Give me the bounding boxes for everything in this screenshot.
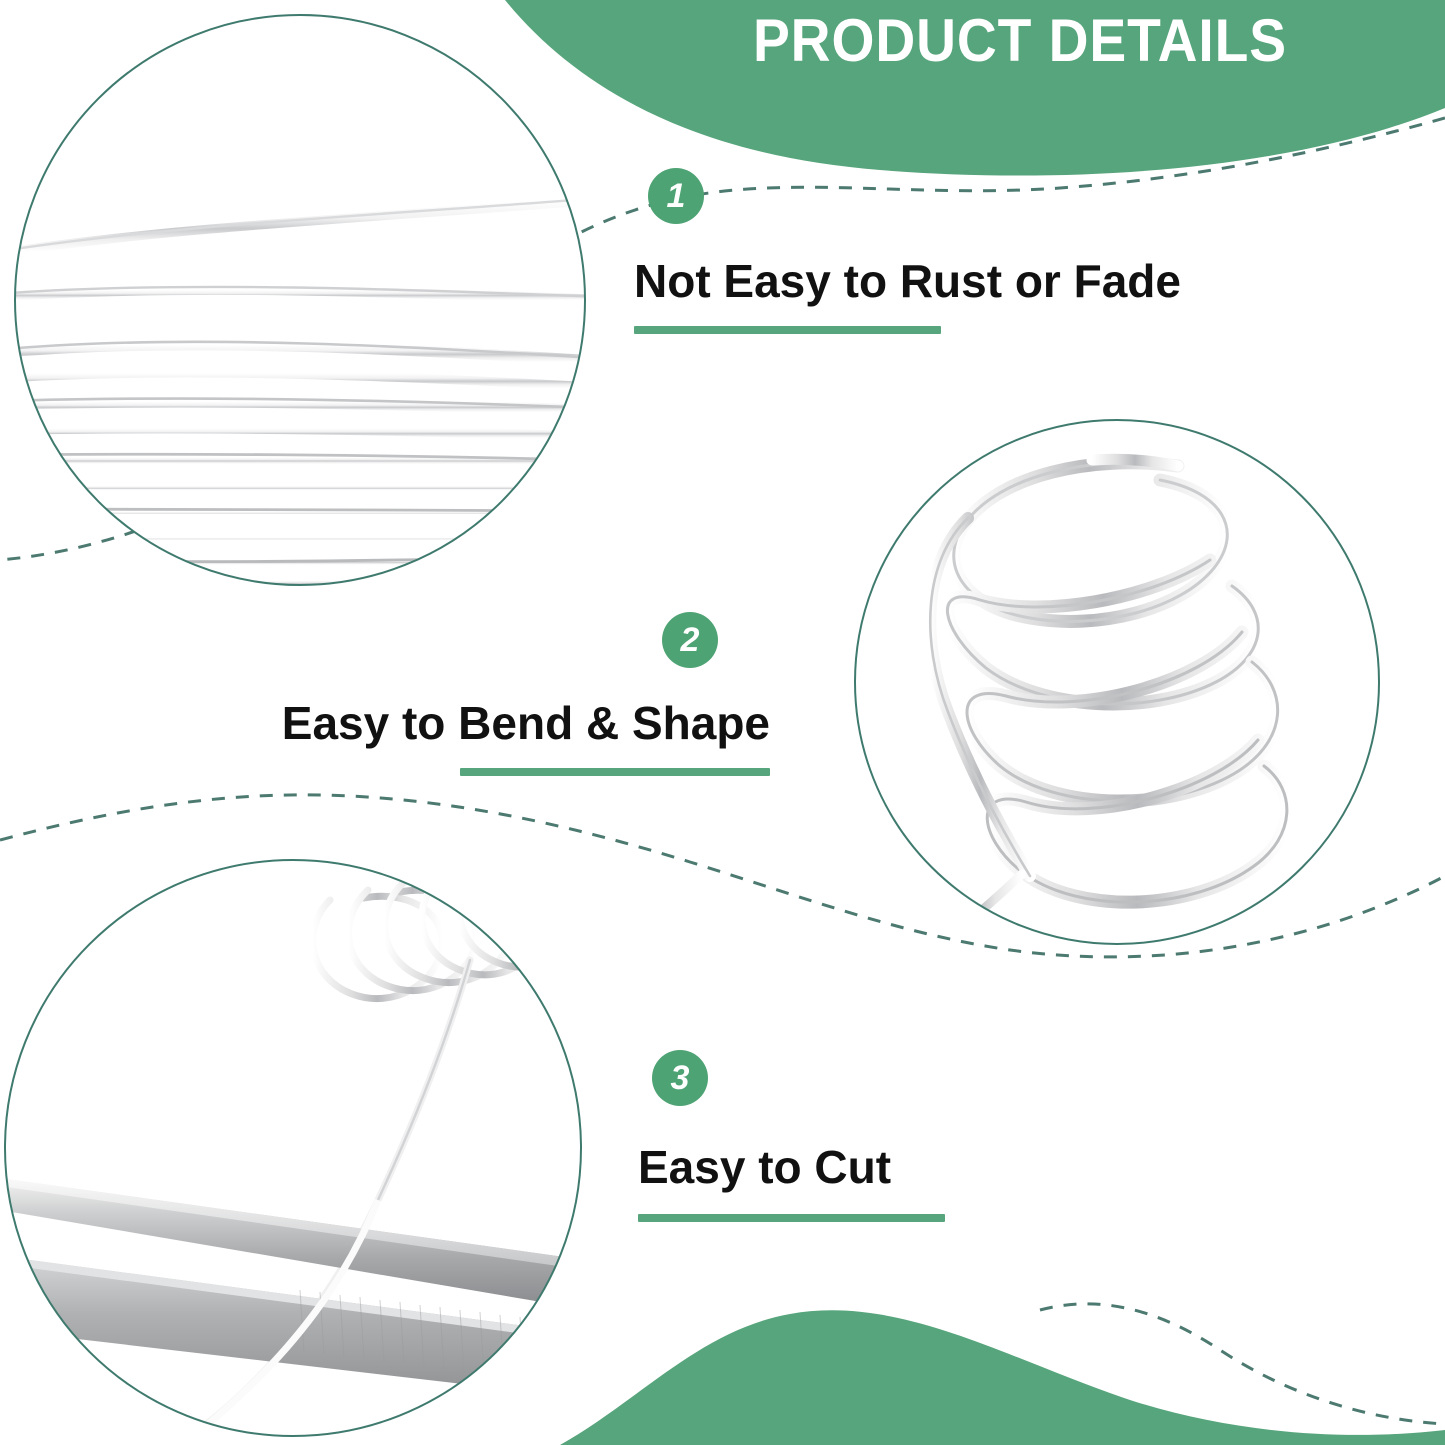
feature-number-badge-1: 1 xyxy=(648,168,704,224)
page-title: PRODUCT DETAILS xyxy=(652,6,1388,76)
feature-item-3: 3 Easy to Cut xyxy=(638,1050,945,1222)
feature-title-1: Not Easy to Rust or Fade xyxy=(634,252,1181,310)
feature-item-1: 1 Not Easy to Rust or Fade xyxy=(634,168,1181,334)
feature-underline-2 xyxy=(460,768,770,776)
bottom-green-band xyxy=(560,1310,1445,1445)
product-details-infographic: PRODUCT DETAILS 1 Not Easy to Rust or Fa… xyxy=(0,0,1445,1445)
feature-title-3: Easy to Cut xyxy=(638,1138,945,1196)
feature-underline-1 xyxy=(634,326,941,334)
feature-number-badge-2: 2 xyxy=(662,612,718,668)
feature-title-2: Easy to Bend & Shape xyxy=(252,694,770,752)
photo-coiled-silver-wire xyxy=(0,0,620,620)
feature-number-badge-3: 3 xyxy=(652,1050,708,1106)
feature-item-2: 2 Easy to Bend & Shape xyxy=(252,612,770,776)
feature-underline-3 xyxy=(638,1214,945,1222)
